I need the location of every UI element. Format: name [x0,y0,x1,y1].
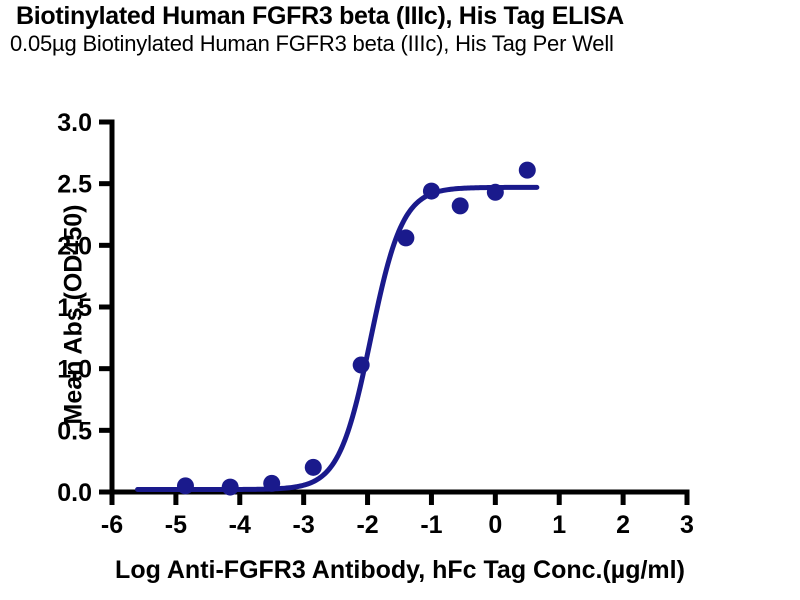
data-point [423,183,440,200]
x-tick-label: 0 [488,511,502,539]
data-point [222,479,239,496]
x-tick-label: -5 [165,511,187,539]
data-point [177,477,194,494]
x-tick-label: -4 [229,511,251,539]
x-tick-label: -3 [293,511,315,539]
x-tick-label: -6 [101,511,123,539]
x-tick-label: 2 [616,511,630,539]
data-point [397,229,414,246]
data-point [452,197,469,214]
chart-figure: Biotinylated Human FGFR3 beta (IIIc), Hi… [0,0,800,600]
x-tick-label: 1 [552,511,566,539]
x-axis-label: Log Anti-FGFR3 Antibody, hFc Tag Conc.(µ… [0,556,800,585]
data-point [305,459,322,476]
x-tick-label: -2 [356,511,378,539]
fit-curve [138,187,537,489]
x-tick-label: -1 [420,511,442,539]
data-point [487,184,504,201]
plot-area: -6-5-4-3-2-101230.00.51.01.52.02.53.0 [0,0,800,600]
data-point [263,475,280,492]
data-point [519,162,536,179]
x-tick-label: 3 [680,511,694,539]
y-axis-label: Mean Abs.(OD450) [60,115,89,515]
data-point [353,356,370,373]
